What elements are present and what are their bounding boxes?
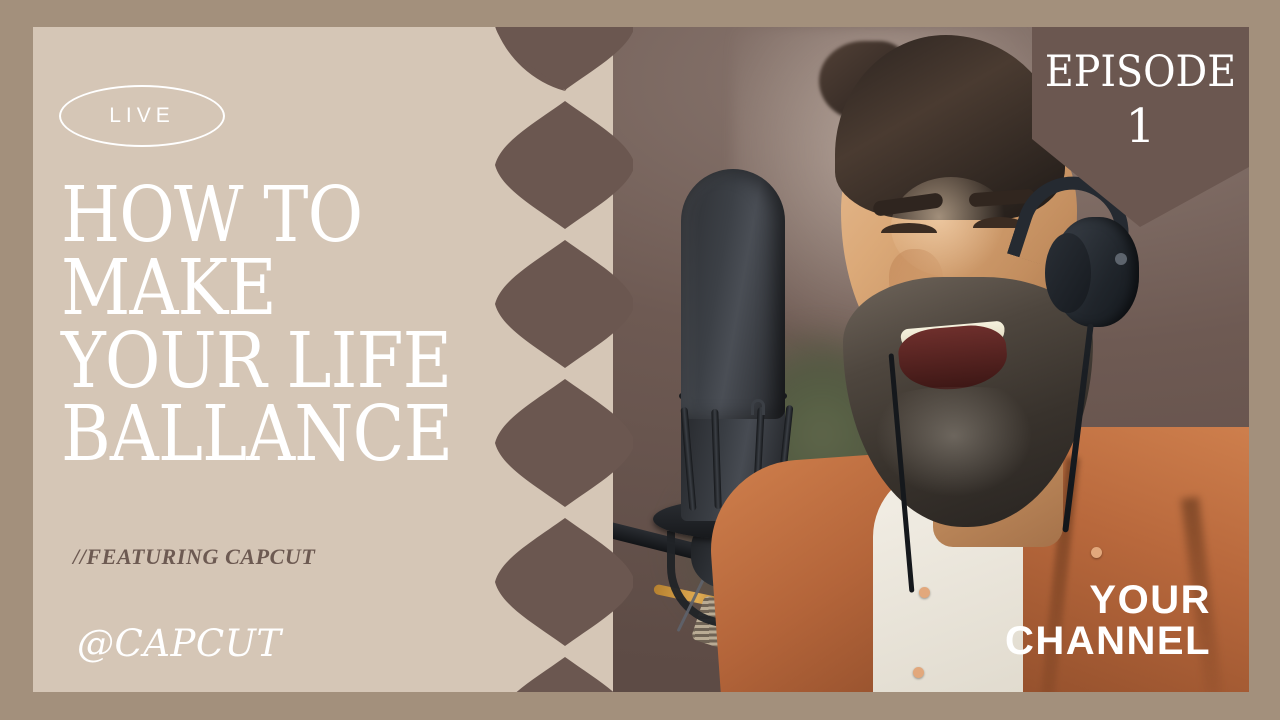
left-content: LIVE How to Make Your Life Ballance //FE… [33, 27, 593, 692]
live-badge-label: LIVE [109, 104, 175, 128]
live-badge[interactable]: LIVE [59, 85, 225, 147]
jacket-button [919, 587, 930, 598]
page-title: How to Make Your Life Ballance [61, 179, 501, 472]
jacket-button [1091, 547, 1102, 558]
headline-line-3: Your Life [61, 325, 501, 398]
headline-line-1: How to [61, 179, 501, 252]
featuring-credit: //FEATURING CAPCUT [73, 544, 315, 570]
channel-line-2: Channel [1005, 621, 1211, 662]
thumbnail-canvas: LIVE How to Make Your Life Ballance //FE… [0, 0, 1280, 720]
headphone-detail [1115, 253, 1127, 265]
jacket-button [913, 667, 924, 678]
episode-badge-shape [1032, 27, 1249, 227]
headline-line-4: Ballance [61, 398, 501, 471]
social-handle: @CAPCUT [77, 622, 282, 665]
channel-name: Your Channel [1005, 580, 1211, 662]
artboard: LIVE How to Make Your Life Ballance //FE… [33, 27, 1249, 692]
channel-line-1: Your [1005, 580, 1211, 621]
headphone-earpad [1045, 233, 1091, 313]
headline-line-2: Make [61, 252, 501, 325]
episode-badge: Episode 1 [1032, 27, 1249, 227]
